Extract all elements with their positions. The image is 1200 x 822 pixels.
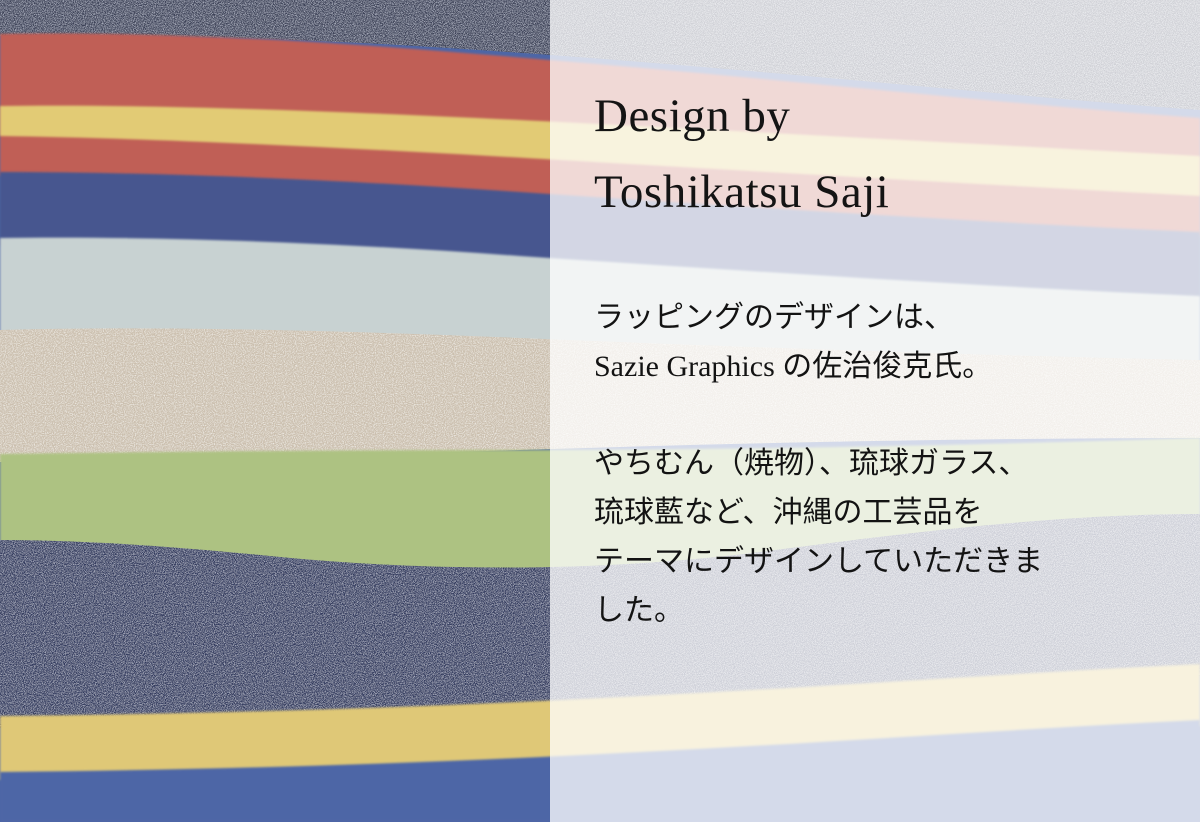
crafts-theme-line-4: した。 (594, 587, 1160, 636)
paragraph-crafts-theme: やちむん（焼物）、琉球ガラス、 琉球藍など、沖縄の工芸品を テーマにデザインして… (594, 440, 1160, 636)
paragraph-wrapping-credit: ラッピングのデザインは、 Sazie Graphics の佐治俊克氏。 (594, 294, 1160, 392)
poster-canvas: Design by Toshikatsu Saji ラッピングのデザインは、 S… (0, 0, 1200, 822)
page-title: Design by Toshikatsu Saji (594, 78, 1160, 230)
crafts-theme-line-2: 琉球藍など、沖縄の工芸品を (594, 489, 1160, 538)
text-column: Design by Toshikatsu Saji ラッピングのデザインは、 S… (550, 0, 1200, 822)
headline-line-2: Toshikatsu Saji (594, 154, 1160, 230)
headline-line-1: Design by (594, 78, 1160, 154)
crafts-theme-line-1: やちむん（焼物）、琉球ガラス、 (594, 440, 1160, 489)
wrapping-credit-line-1: ラッピングのデザインは、 (594, 294, 1160, 343)
wrapping-credit-line-2: Sazie Graphics の佐治俊克氏。 (594, 343, 1160, 392)
crafts-theme-line-3: テーマにデザインしていただきま (594, 538, 1160, 587)
